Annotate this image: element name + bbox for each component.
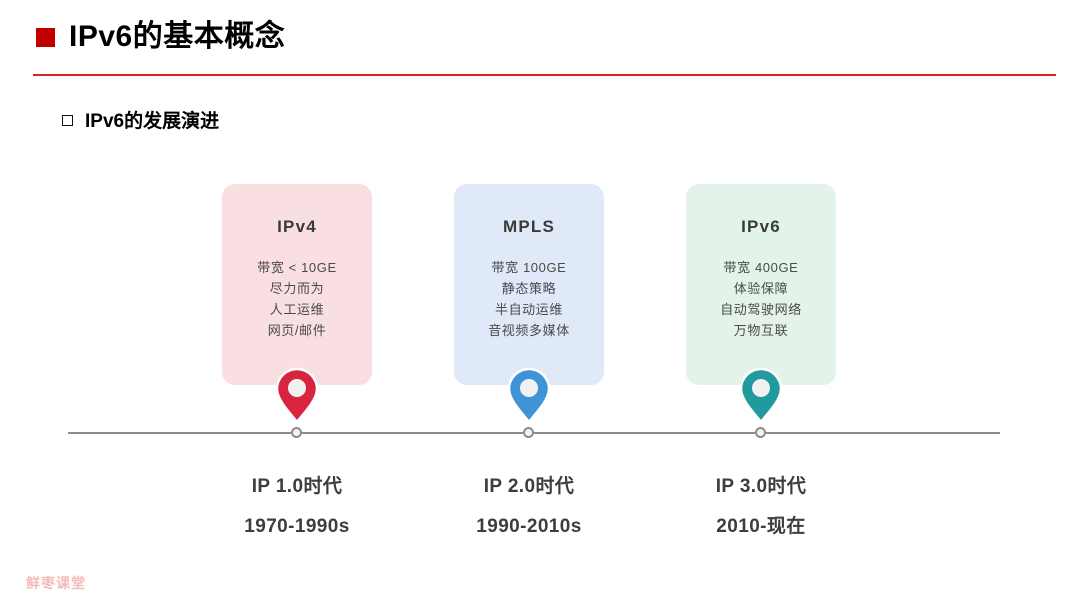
era-label-2-range: 1990-2010s bbox=[414, 517, 644, 536]
stage-card-3-feature-4: 万物互联 bbox=[686, 320, 836, 341]
era-label-1: IP 1.0时代 1970-1990s bbox=[182, 477, 412, 536]
timeline-node-1 bbox=[291, 427, 302, 438]
stage-card-2-feature-1: 带宽 100GE bbox=[454, 257, 604, 278]
stage-card-1-feature-1: 带宽 < 10GE bbox=[222, 257, 372, 278]
era-label-3-range: 2010-现在 bbox=[646, 517, 876, 536]
stage-card-3-feature-2: 体验保障 bbox=[686, 278, 836, 299]
stage-card-1-feature-4: 网页/邮件 bbox=[222, 320, 372, 341]
timeline-axis bbox=[68, 432, 1000, 434]
stage-card-1-features: 带宽 < 10GE 尽力而为 人工运维 网页/邮件 bbox=[222, 257, 372, 341]
stage-card-2-feature-4: 音视频多媒体 bbox=[454, 320, 604, 341]
stage-card-3-features: 带宽 400GE 体验保障 自动驾驶网络 万物互联 bbox=[686, 257, 836, 341]
stage-card-2-feature-2: 静态策略 bbox=[454, 278, 604, 299]
map-pin-icon-1 bbox=[274, 366, 320, 424]
stage-card-1-feature-2: 尽力而为 bbox=[222, 278, 372, 299]
timeline-node-3 bbox=[755, 427, 766, 438]
stage-card-3: IPv6 带宽 400GE 体验保障 自动驾驶网络 万物互联 bbox=[686, 184, 836, 385]
era-label-3-name: IP 3.0时代 bbox=[646, 477, 876, 496]
stage-card-2: MPLS 带宽 100GE 静态策略 半自动运维 音视频多媒体 bbox=[454, 184, 604, 385]
era-label-1-range: 1970-1990s bbox=[182, 517, 412, 536]
map-pin-icon-2 bbox=[506, 366, 552, 424]
timeline-diagram: IPv4 带宽 < 10GE 尽力而为 人工运维 网页/邮件 IP 1.0时代 … bbox=[0, 0, 1080, 608]
timeline-node-2 bbox=[523, 427, 534, 438]
stage-card-1-title: IPv4 bbox=[222, 218, 372, 235]
stage-card-2-features: 带宽 100GE 静态策略 半自动运维 音视频多媒体 bbox=[454, 257, 604, 341]
era-label-2: IP 2.0时代 1990-2010s bbox=[414, 477, 644, 536]
stage-card-2-title: MPLS bbox=[454, 218, 604, 235]
stage-card-3-feature-3: 自动驾驶网络 bbox=[686, 299, 836, 320]
stage-card-3-feature-1: 带宽 400GE bbox=[686, 257, 836, 278]
map-pin-icon-3 bbox=[738, 366, 784, 424]
era-label-3: IP 3.0时代 2010-现在 bbox=[646, 477, 876, 536]
era-label-1-name: IP 1.0时代 bbox=[182, 477, 412, 496]
watermark: 鲜枣课堂 bbox=[26, 573, 86, 593]
stage-card-1-feature-3: 人工运维 bbox=[222, 299, 372, 320]
stage-card-3-title: IPv6 bbox=[686, 218, 836, 235]
era-label-2-name: IP 2.0时代 bbox=[414, 477, 644, 496]
stage-card-2-feature-3: 半自动运维 bbox=[454, 299, 604, 320]
stage-card-1: IPv4 带宽 < 10GE 尽力而为 人工运维 网页/邮件 bbox=[222, 184, 372, 385]
